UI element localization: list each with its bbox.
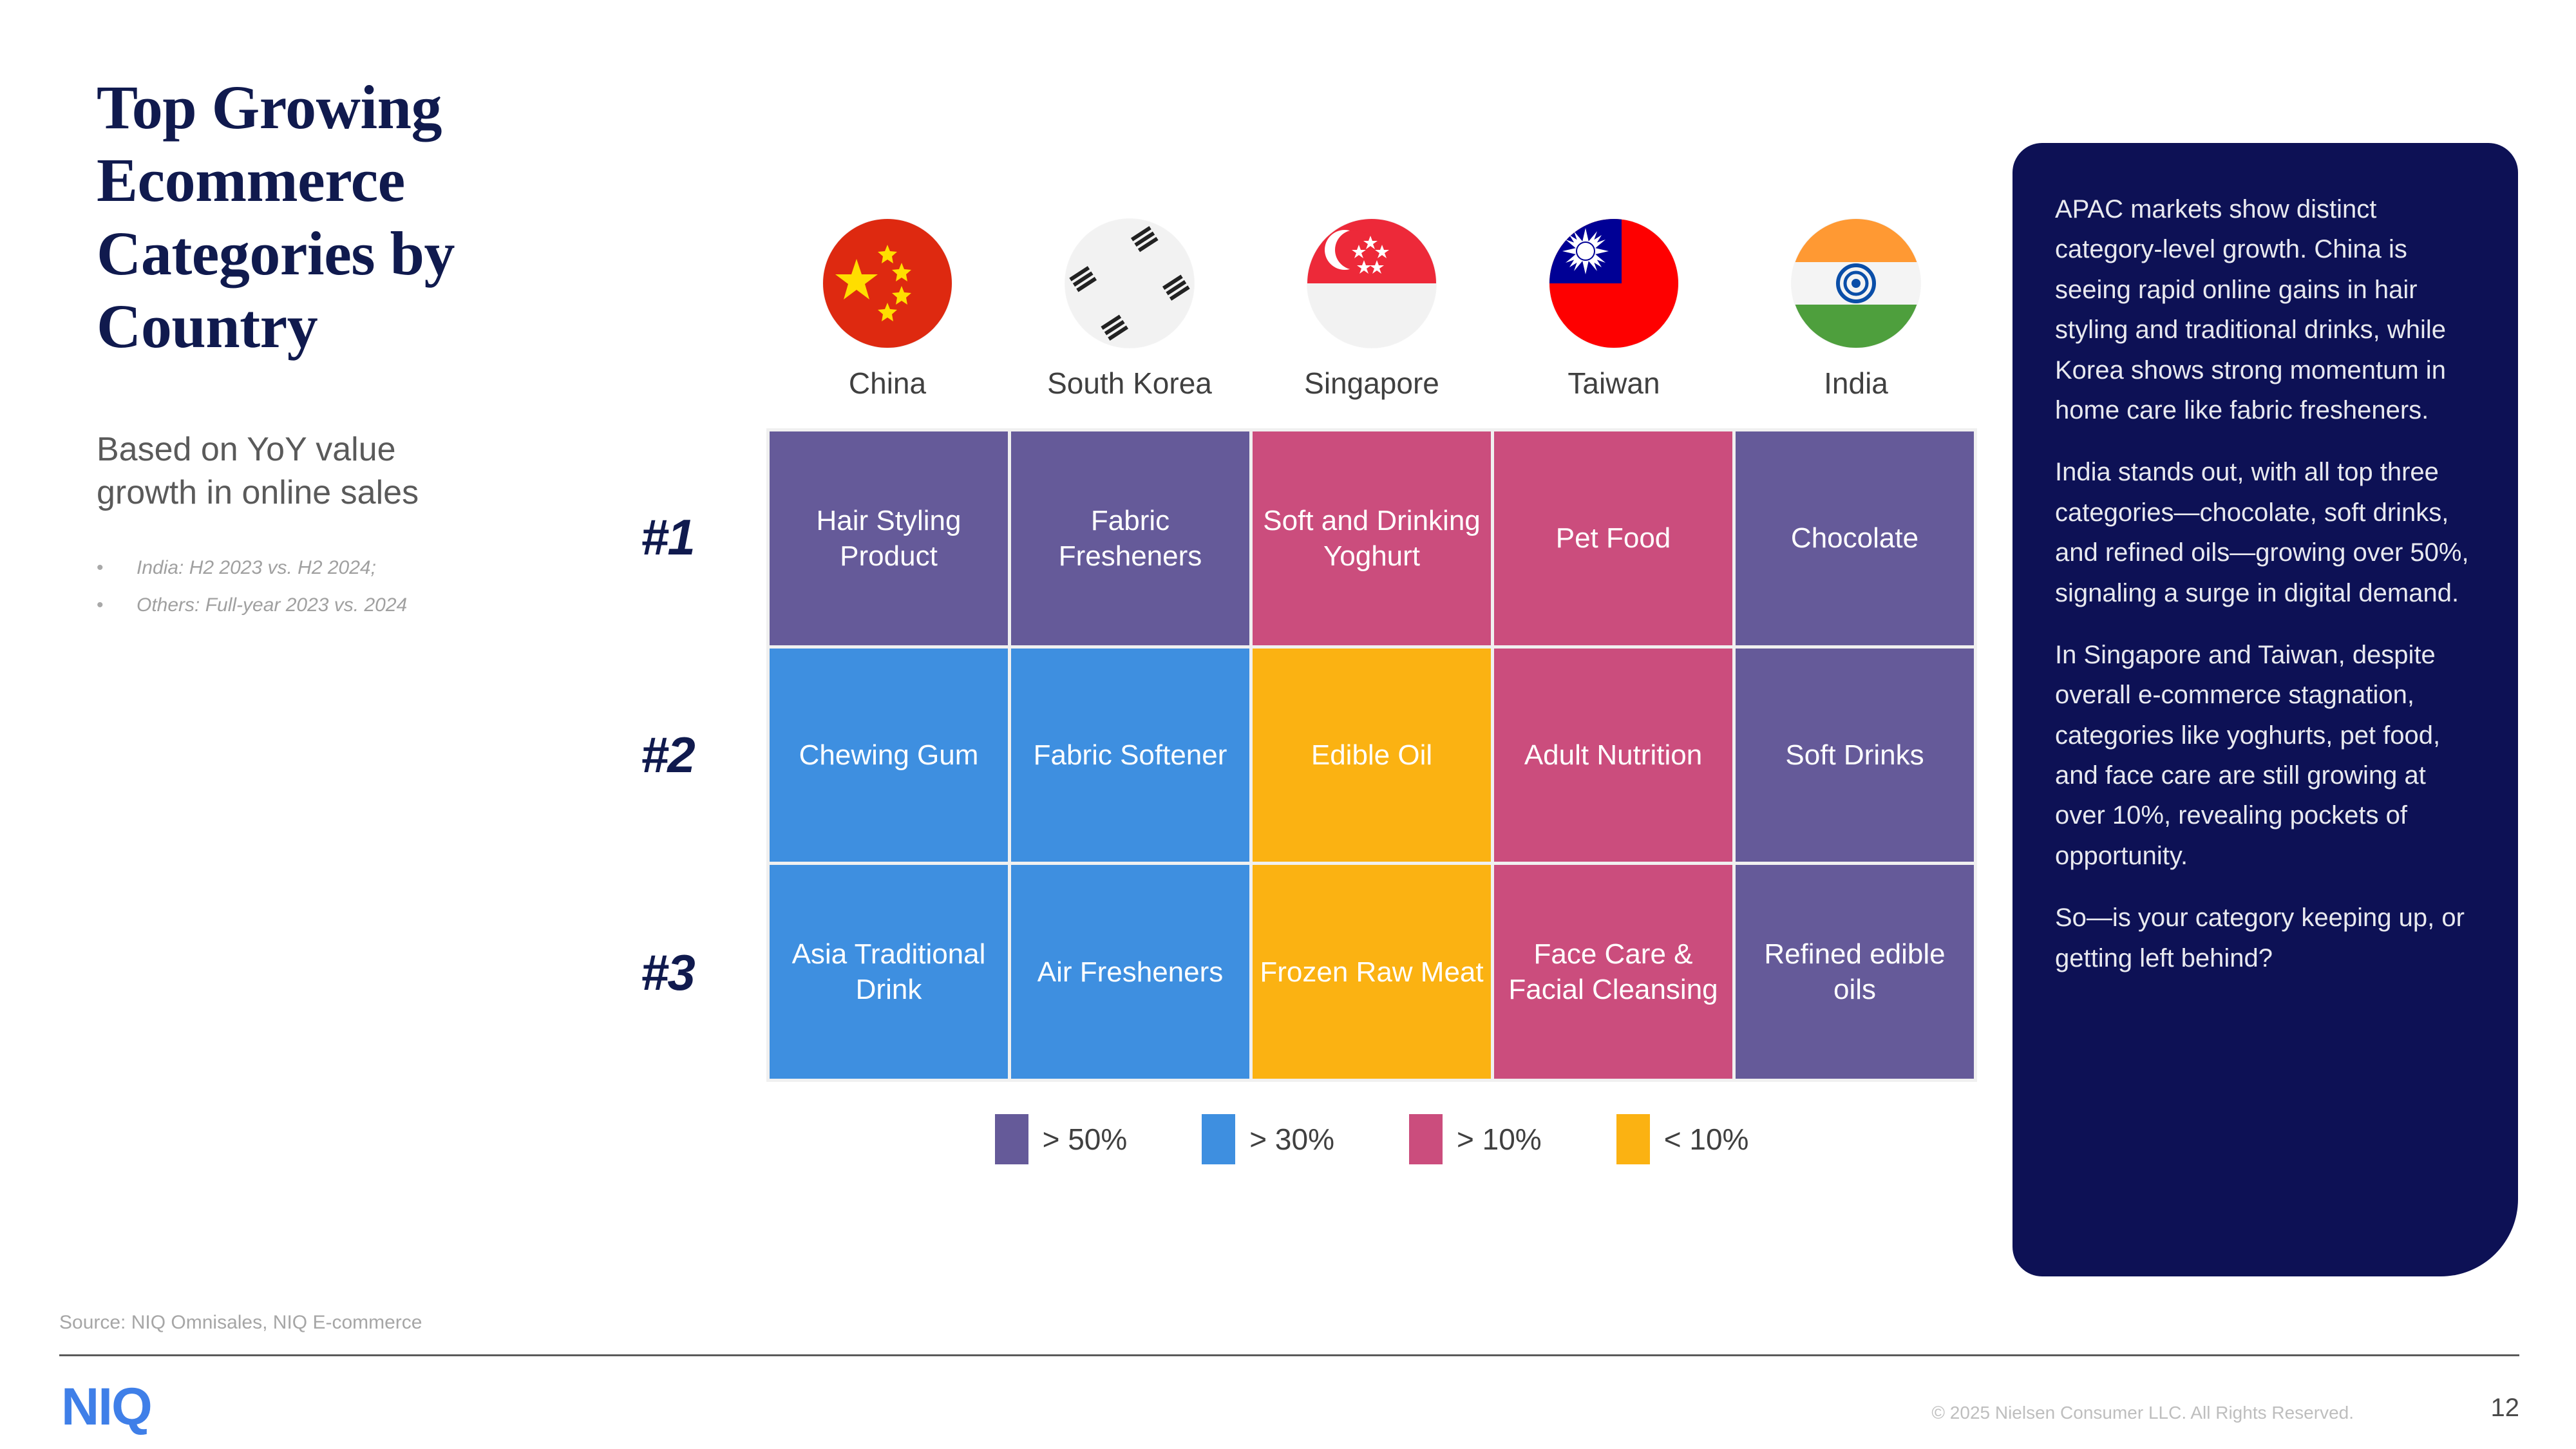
country-label: South Korea <box>1047 366 1212 401</box>
footnote-item: • India: H2 2023 vs. H2 2024; <box>97 554 573 582</box>
legend-label: > 50% <box>1043 1122 1128 1157</box>
footnote-text: India: H2 2023 vs. H2 2024; <box>137 554 376 582</box>
country-label: Taiwan <box>1567 366 1660 401</box>
flag-india-icon <box>1792 219 1920 348</box>
slide-root: Top Growing Ecommerce Categories by Coun… <box>0 0 2576 1449</box>
grid-cell[interactable]: Pet Food <box>1494 431 1732 645</box>
grid-cell[interactable]: Fabric Fresheners <box>1011 431 1249 645</box>
legend-swatch-icon <box>995 1114 1028 1164</box>
country-column-india: India <box>1735 219 1977 401</box>
flag-taiwan-icon <box>1549 219 1678 348</box>
legend-item: > 50% <box>995 1114 1128 1164</box>
legend-item: < 10% <box>1616 1114 1749 1164</box>
flag-china-icon <box>823 219 952 348</box>
bullet-icon: • <box>97 591 137 620</box>
grid-cell[interactable]: Chocolate <box>1736 431 1974 645</box>
legend-swatch-icon <box>1616 1114 1650 1164</box>
country-label: India <box>1824 366 1888 401</box>
legend-item: > 10% <box>1409 1114 1542 1164</box>
grid-cell[interactable]: Chewing Gum <box>770 649 1008 862</box>
footer-divider <box>59 1354 2519 1356</box>
category-grid: Hair Styling Product Fabric Fresheners S… <box>766 428 1977 1082</box>
legend-label: > 10% <box>1457 1122 1542 1157</box>
footnote-text: Others: Full-year 2023 vs. 2024 <box>137 591 407 620</box>
insight-paragraph: APAC markets show distinct category-leve… <box>2055 189 2476 430</box>
legend-swatch-icon <box>1202 1114 1235 1164</box>
country-label: China <box>849 366 926 401</box>
country-column-south-korea: South Korea <box>1009 219 1251 401</box>
page-subtitle: Based on YoY value growth in online sale… <box>97 428 496 514</box>
country-column-taiwan: Taiwan <box>1493 219 1735 401</box>
rank-label-2: #2 <box>641 646 757 864</box>
rank-label-column: #1 #2 #3 <box>641 428 757 1082</box>
source-note: Source: NIQ Omnisales, NIQ E-commerce <box>59 1312 422 1334</box>
flag-singapore-icon <box>1307 219 1436 348</box>
insight-paragraph: India stands out, with all top three cat… <box>2055 452 2476 613</box>
grid-cell[interactable]: Fabric Softener <box>1011 649 1249 862</box>
country-column-china: China <box>766 219 1009 401</box>
legend-label: > 30% <box>1249 1122 1334 1157</box>
country-column-singapore: Singapore <box>1251 219 1493 401</box>
country-header-row: China South Korea <box>766 219 1977 401</box>
niq-logo: NIQ <box>61 1377 151 1437</box>
legend-item: > 30% <box>1202 1114 1334 1164</box>
grid-cell[interactable]: Frozen Raw Meat <box>1253 865 1491 1079</box>
grid-cell[interactable]: Hair Styling Product <box>770 431 1008 645</box>
insight-panel: APAC markets show distinct category-leve… <box>2012 143 2518 1276</box>
rank-label-1: #1 <box>641 428 757 646</box>
country-label: Singapore <box>1304 366 1439 401</box>
page-title: Top Growing Ecommerce Categories by Coun… <box>97 71 586 363</box>
legend-swatch-icon <box>1409 1114 1443 1164</box>
page-number: 12 <box>2491 1394 2520 1423</box>
grid-cell[interactable]: Asia Traditional Drink <box>770 865 1008 1079</box>
insight-paragraph: In Singapore and Taiwan, despite overall… <box>2055 635 2476 876</box>
flag-south-korea-icon <box>1065 219 1194 348</box>
grid-cell[interactable]: Soft Drinks <box>1736 649 1974 862</box>
grid-cell[interactable]: Soft and Drinking Yoghurt <box>1253 431 1491 645</box>
legend-label: < 10% <box>1664 1122 1749 1157</box>
bullet-icon: • <box>97 554 137 582</box>
insight-paragraph: So—is your category keeping up, or getti… <box>2055 898 2476 978</box>
grid-cell[interactable]: Edible Oil <box>1253 649 1491 862</box>
grid-cell[interactable]: Adult Nutrition <box>1494 649 1732 862</box>
legend: > 50% > 30% > 10% < 10% <box>766 1114 1977 1164</box>
grid-cell[interactable]: Face Care & Facial Cleansing <box>1494 865 1732 1079</box>
footnote-list: • India: H2 2023 vs. H2 2024; • Others: … <box>97 554 573 628</box>
grid-cell[interactable]: Air Fresheners <box>1011 865 1249 1079</box>
footnote-item: • Others: Full-year 2023 vs. 2024 <box>97 591 573 620</box>
copyright-text: © 2025 Nielsen Consumer LLC. All Rights … <box>1931 1403 2354 1423</box>
rank-label-3: #3 <box>641 864 757 1082</box>
grid-cell[interactable]: Refined edible oils <box>1736 865 1974 1079</box>
